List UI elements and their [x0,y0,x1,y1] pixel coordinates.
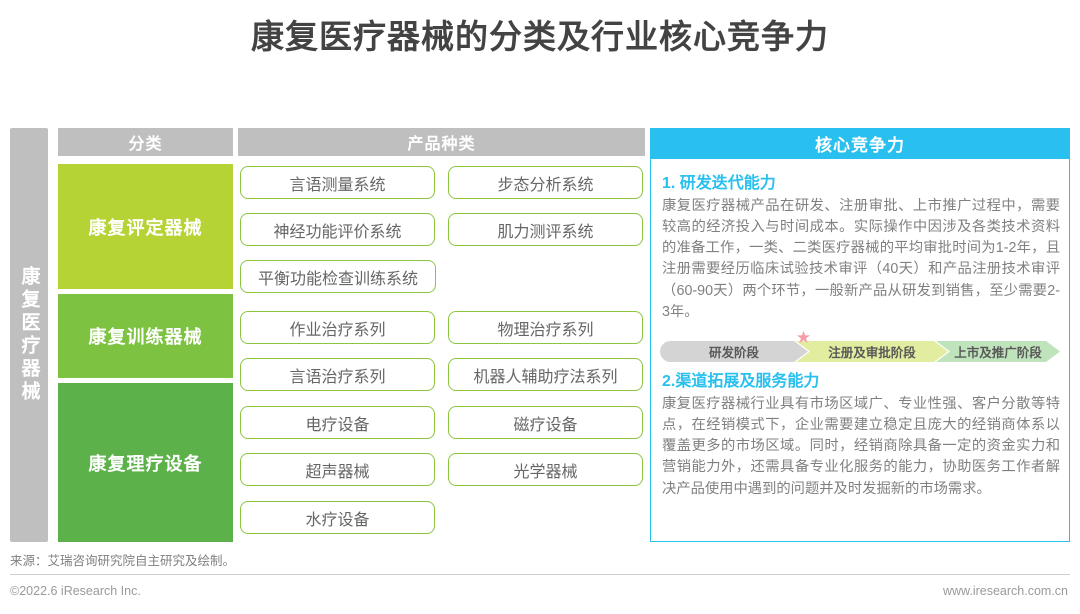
product-pill[interactable]: 言语治疗系列 [240,358,435,391]
product-pill[interactable]: 超声器械 [240,453,435,486]
category-box-physiotherapy[interactable]: 康复理疗设备 [58,383,233,542]
source-note: 来源：艾瑞咨询研究院自主研究及绘制。 [10,550,235,569]
product-pill[interactable]: 神经功能评价系统 [240,213,435,246]
stage-segment-rd[interactable]: 研发阶段 [660,341,808,362]
product-pill[interactable]: 作业治疗系列 [240,311,435,344]
core-competitiveness-panel: 核心竞争力 1. 研发迭代能力 康复医疗器械产品在研发、注册审批、上市推广过程中… [650,128,1070,542]
lifecycle-stage-bar: 研发阶段 注册及审批阶段 上市及推广阶段 ★ [660,329,1060,363]
footer-divider [10,574,1070,575]
product-pill[interactable]: 物理治疗系列 [448,311,643,344]
column-header-product: 产品种类 [238,128,645,156]
product-pill[interactable]: 肌力测评系统 [448,213,643,246]
product-pill[interactable]: 言语测量系统 [240,166,435,199]
stage-segment-launch[interactable]: 上市及推广阶段 [936,341,1060,362]
stage-segments: 研发阶段 注册及审批阶段 上市及推广阶段 [660,341,1060,362]
column-header-category: 分类 [58,128,233,156]
core-section-2-body: 康复医疗器械行业具有市场区域广、专业性强、客户分散等特点，在经销模式下，企业需要… [662,394,1060,500]
product-pill[interactable]: 平衡功能检查训练系统 [240,260,436,293]
product-pill[interactable]: 光学器械 [448,453,643,486]
product-pill[interactable]: 电疗设备 [240,406,435,439]
product-pill[interactable]: 水疗设备 [240,501,435,534]
infographic-stage: 康复医疗器械 分类 产品种类 康复评定器械 康复训练器械 康复理疗设备 言语测量… [0,120,1080,545]
core-section-2-title: 2.渠道拓展及服务能力 [662,367,1060,391]
stage-segment-registration[interactable]: 注册及审批阶段 [796,341,948,362]
core-section-1-body: 康复医疗器械产品在研发、注册审批、上市推广过程中，需要较高的经济投入与时间成本。… [662,196,1060,323]
category-box-training[interactable]: 康复训练器械 [58,294,233,378]
star-marker-icon: ★ [795,329,812,346]
core-panel-body: 1. 研发迭代能力 康复医疗器械产品在研发、注册审批、上市推广过程中，需要较高的… [650,159,1070,542]
category-box-assessment[interactable]: 康复评定器械 [58,164,233,289]
root-category-bar: 康复医疗器械 [10,128,48,542]
copyright-text: ©2022.6 iResearch Inc. [10,584,141,598]
core-section-1-title: 1. 研发迭代能力 [662,169,1060,193]
product-pill[interactable]: 磁疗设备 [448,406,643,439]
product-pill[interactable]: 步态分析系统 [448,166,643,199]
root-category-label: 康复医疗器械 [20,266,39,404]
product-pill[interactable]: 机器人辅助疗法系列 [448,358,643,391]
core-panel-header: 核心竞争力 [650,128,1070,159]
page-title: 康复医疗器械的分类及行业核心竞争力 [0,10,1080,58]
website-url: www.iresearch.com.cn [943,584,1068,598]
